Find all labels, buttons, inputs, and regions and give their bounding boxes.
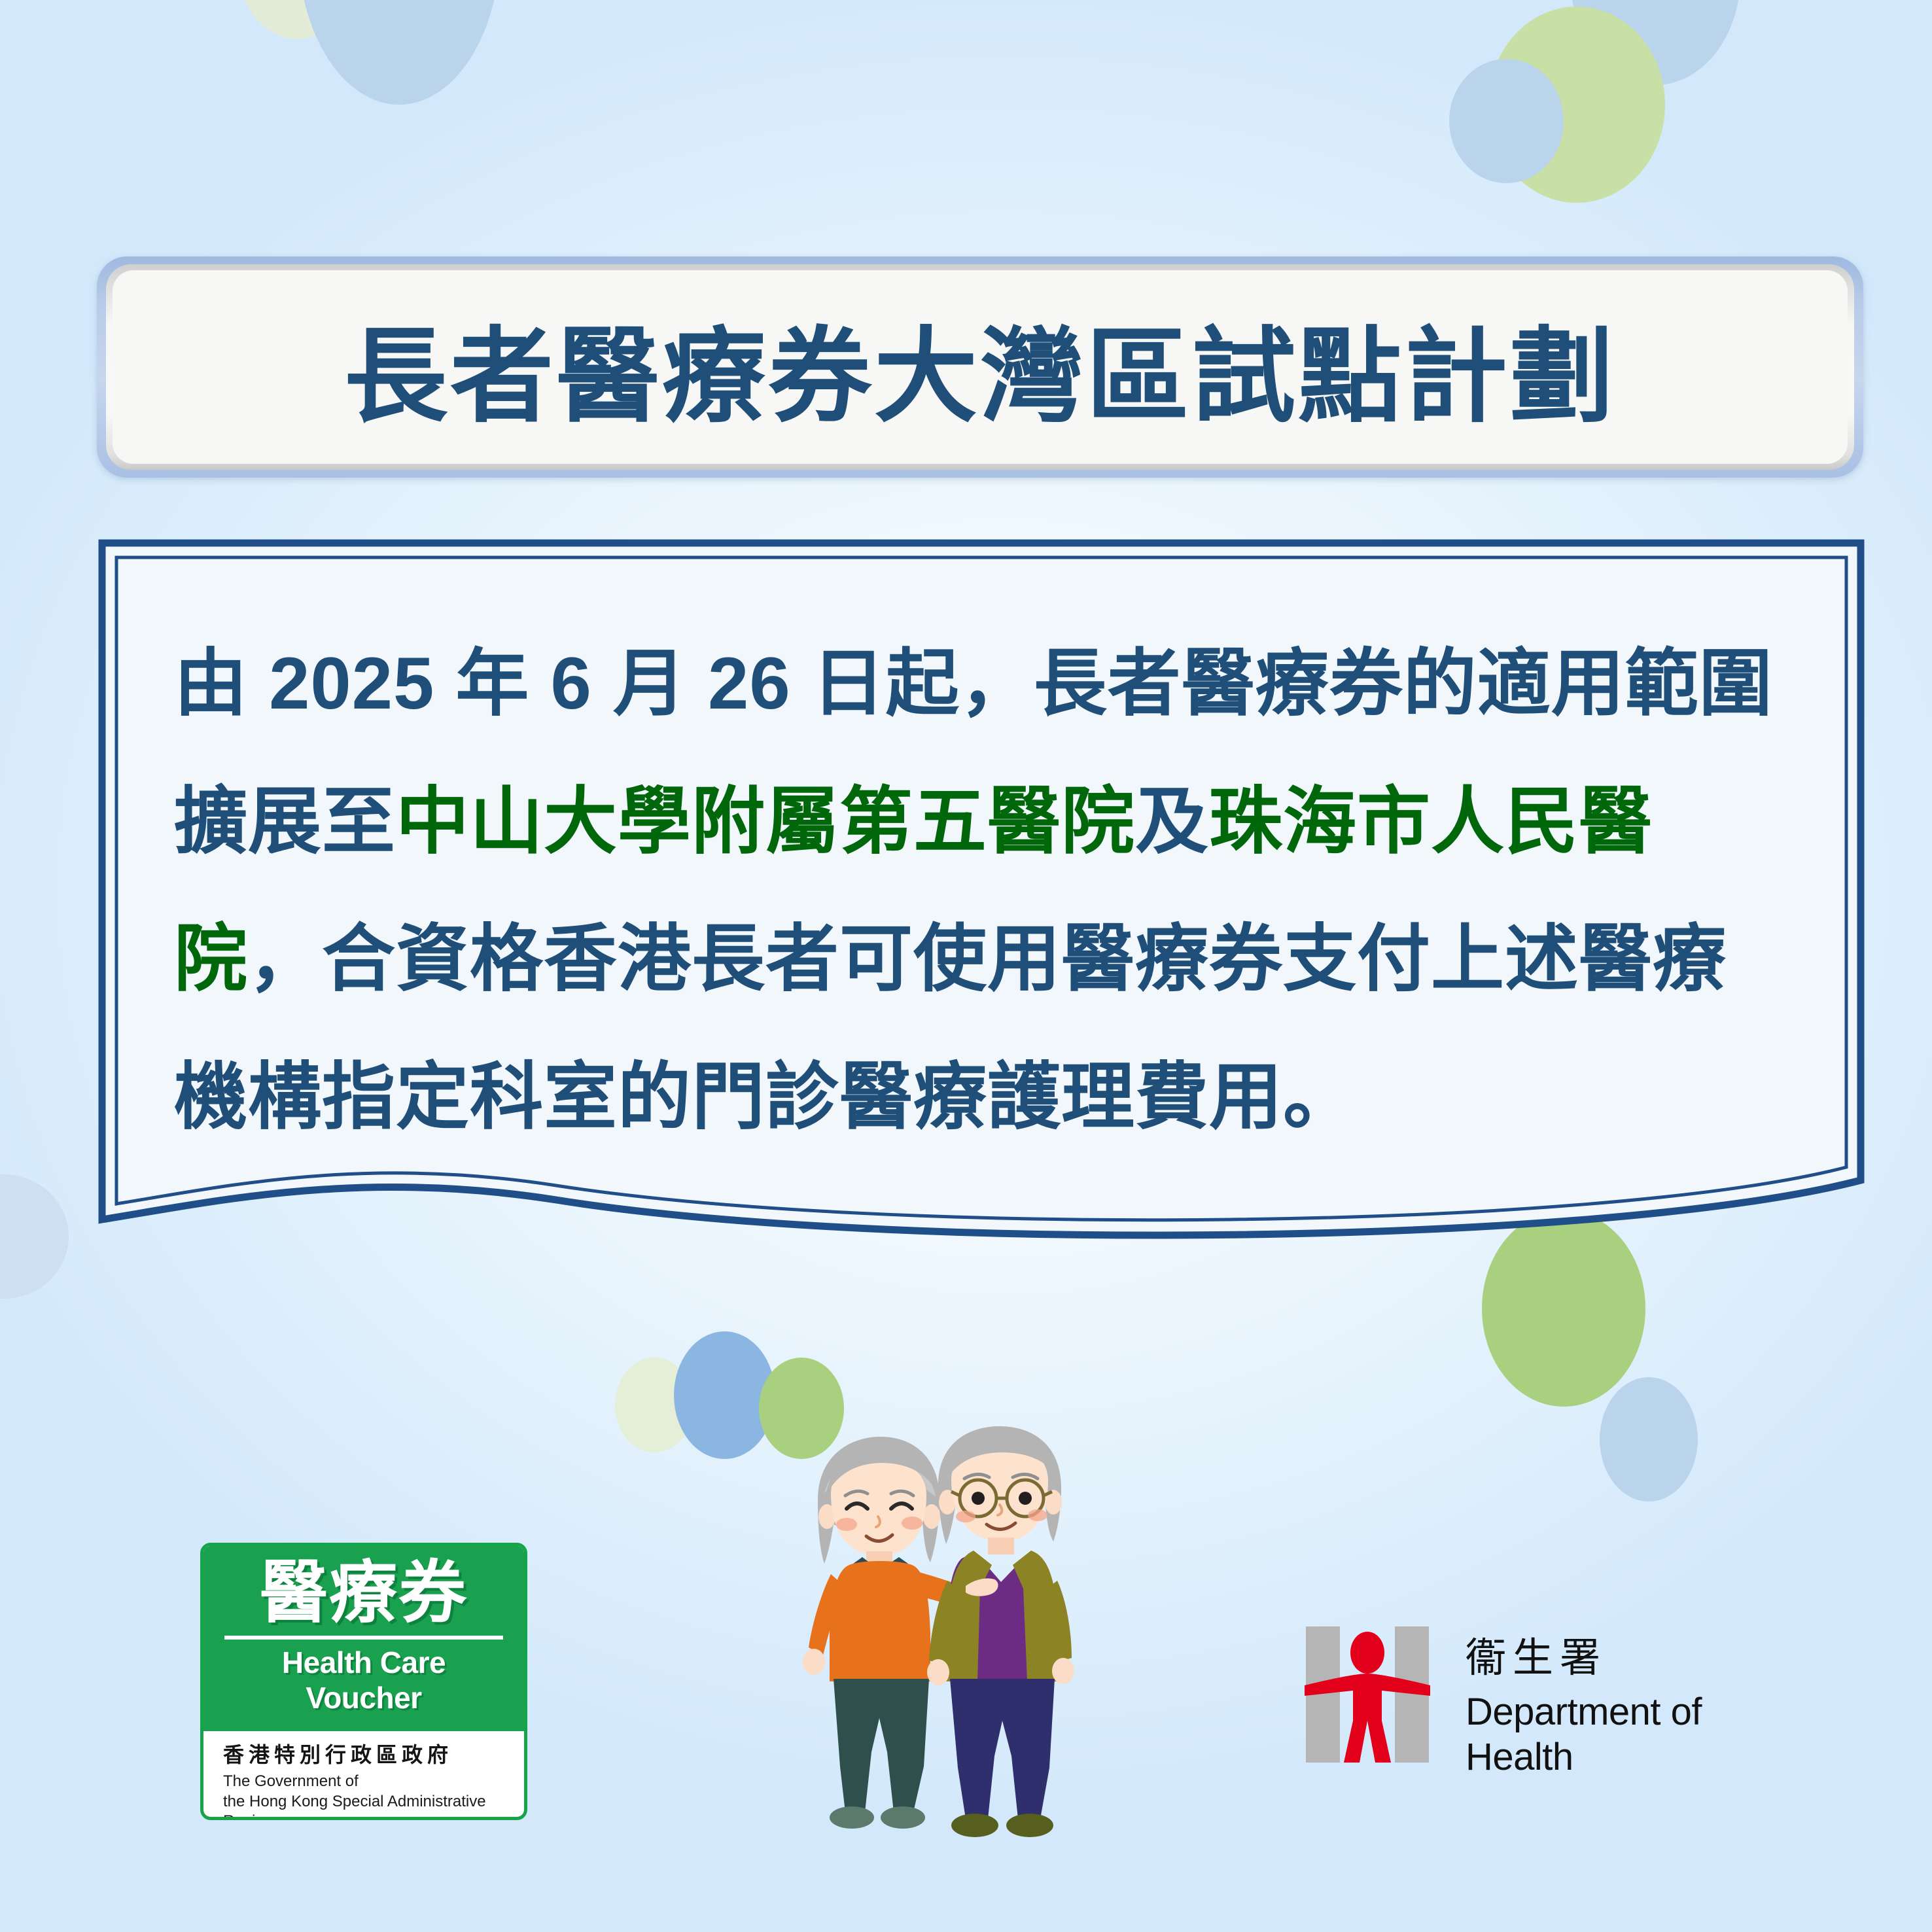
blob-blue-bottom-rt	[1600, 1377, 1698, 1502]
hcv-government-block: 香港特別行政區政府 The Government of the Hong Kon…	[203, 1731, 524, 1820]
body-text-segment-4: ，合資格香港長者可使用醫療券支付上述醫療機構指定科室的門診醫療護理費用。	[174, 918, 1727, 1138]
hcv-green-block: 醫療券 Health Care Voucher	[203, 1546, 524, 1731]
health-care-voucher-logo: 醫療券 Health Care Voucher 香港特別行政區政府 The Go…	[200, 1543, 527, 1820]
body-panel: 由 2025 年 6 月 26 日起，長者醫療券的適用範圍擴展至中山大學附屬第五…	[98, 539, 1865, 1246]
hcv-government-chinese: 香港特別行政區政府	[223, 1742, 510, 1768]
elderly-couple-illustration	[784, 1425, 1085, 1857]
highlighted-hospital-name: 中山大學附屬第五醫院	[396, 781, 1135, 862]
elderly-man	[927, 1426, 1074, 1837]
hcv-english-name: Health Care Voucher	[220, 1645, 507, 1715]
dh-chinese-name: 衞生署	[1466, 1633, 1819, 1684]
blob-blue-top-left	[298, 0, 501, 105]
title-plaque-face: 長者醫療券大灣區試點計劃	[113, 270, 1848, 464]
title-plaque-bevel: 長者醫療券大灣區試點計劃	[106, 264, 1854, 470]
dh-english-name: Department of Health	[1466, 1689, 1819, 1780]
dh-text-block: 衞生署 Department of Health	[1466, 1633, 1819, 1780]
body-paragraph: 由 2025 年 6 月 26 日起，長者醫療券的適用範圍擴展至中山大學附屬第五…	[174, 615, 1790, 1166]
title-plaque: 長者醫療券大灣區試點計劃	[97, 256, 1863, 478]
hcv-government-english-line1: The Government of	[223, 1772, 510, 1792]
hcv-divider	[224, 1636, 503, 1640]
blob-blue-top-right-b	[1449, 59, 1564, 183]
dh-h-mark-icon	[1302, 1623, 1433, 1766]
hcv-chinese-name: 醫療券	[220, 1558, 507, 1629]
page-title: 長者醫療券大灣區試點計劃	[113, 270, 1848, 464]
hcv-government-english-line2: the Hong Kong Special Administrative Reg…	[223, 1792, 510, 1820]
body-text-segment-2: 及	[1135, 781, 1209, 862]
poster-canvas: 長者醫療券大灣區試點計劃 由 2025 年 6 月 26 日起，長者醫療券的適用…	[0, 0, 1932, 1932]
department-of-health-logo: 衞生署 Department of Health	[1302, 1623, 1819, 1819]
blob-blue-left-mid	[0, 1174, 69, 1299]
